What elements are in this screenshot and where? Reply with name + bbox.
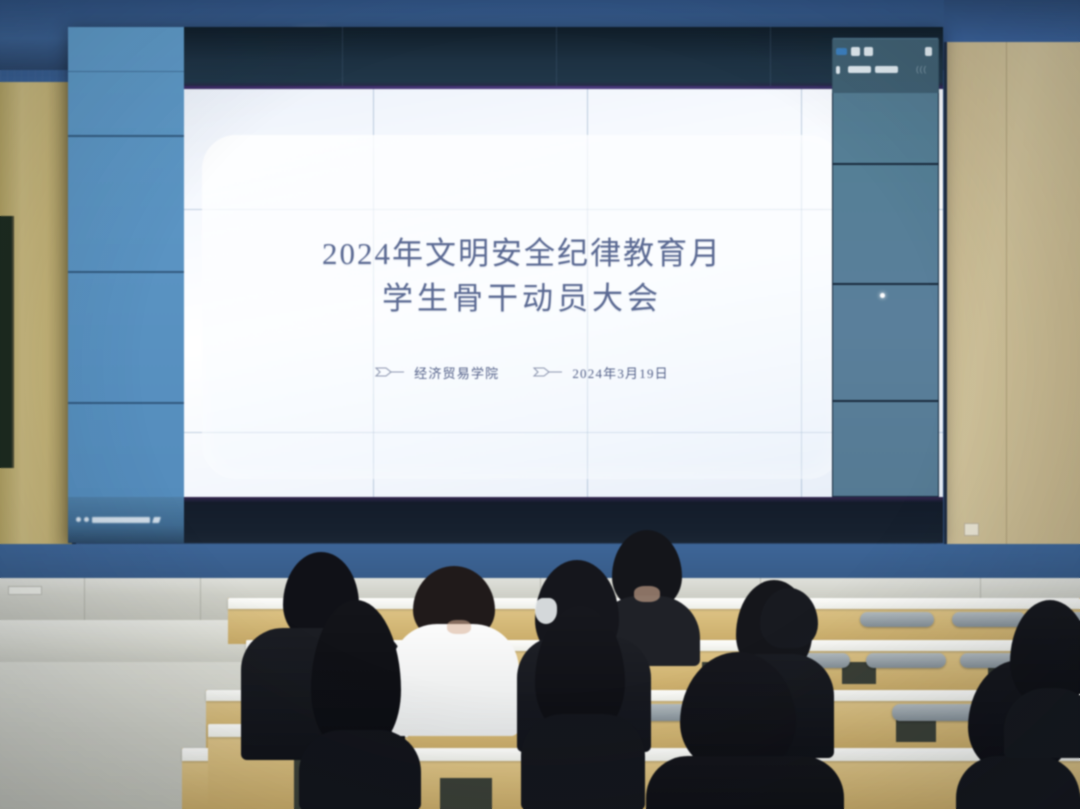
stage-base-wall: [0, 544, 1080, 580]
led-right-column: [832, 37, 939, 497]
led-lower-skirt: [184, 497, 943, 543]
left-door-frame: [0, 216, 14, 468]
seat-back: [952, 612, 1026, 627]
arrow-ribbon-icon: [533, 366, 563, 378]
display-osd-menu[interactable]: (((: [832, 39, 939, 93]
wall-socket[interactable]: [964, 523, 979, 536]
osd-label-block[interactable]: [848, 66, 871, 73]
seat-back: [860, 612, 934, 627]
screen-watermark: [76, 513, 172, 526]
floor-object: [8, 586, 42, 595]
osd-chip[interactable]: [851, 47, 860, 56]
right-wall-upper-strip: [944, 0, 1080, 44]
osd-accent-bar: [836, 48, 847, 55]
slide-meta-row: 经济贸易学院 2024年3月19日: [375, 363, 669, 382]
seat-back: [892, 704, 978, 721]
osd-chip[interactable]: [836, 66, 840, 74]
osd-faint-text: (((: [916, 65, 927, 74]
lecture-hall-scene: 2024年文明安全纪律教育月 学生骨干动员大会 经济贸易学院: [0, 0, 1080, 809]
torso: [521, 714, 645, 809]
stuck-pixel: [880, 293, 885, 298]
slide-meta-organizer-text: 经济贸易学院: [414, 363, 499, 382]
torso: [299, 730, 421, 809]
presentation-screen[interactable]: 2024年文明安全纪律教育月 学生骨干动员大会 经济贸易学院: [184, 89, 943, 497]
torso: [646, 756, 844, 809]
slide-content-card: 2024年文明安全纪律教育月 学生骨干动员大会 经济贸易学院: [202, 135, 842, 479]
slide-meta-date-text: 2024年3月19日: [572, 363, 669, 382]
led-video-wall[interactable]: 2024年文明安全纪律教育月 学生骨干动员大会 经济贸易学院: [68, 27, 943, 543]
led-top-dark-band: [184, 27, 943, 89]
torso: [956, 756, 1080, 809]
torso: [391, 624, 519, 736]
slide-meta-organizer: 经济贸易学院: [375, 363, 499, 382]
panel-seam: [1006, 42, 1007, 550]
slide-title-line-2: 学生骨干动员大会: [322, 277, 722, 321]
led-left-side-panels: [68, 27, 184, 497]
slide-meta-date: 2024年3月19日: [533, 363, 669, 382]
osd-chip[interactable]: [864, 47, 873, 56]
right-beige-panel: [944, 42, 1080, 550]
seat-back: [866, 653, 946, 668]
slide-title-line-1: 2024年文明安全纪律教育月: [322, 232, 722, 276]
osd-label-block[interactable]: [875, 66, 898, 73]
slide-title: 2024年文明安全纪律教育月 学生骨干动员大会: [322, 232, 722, 320]
osd-chip-right[interactable]: [925, 47, 932, 56]
arrow-ribbon-icon: [375, 366, 405, 378]
